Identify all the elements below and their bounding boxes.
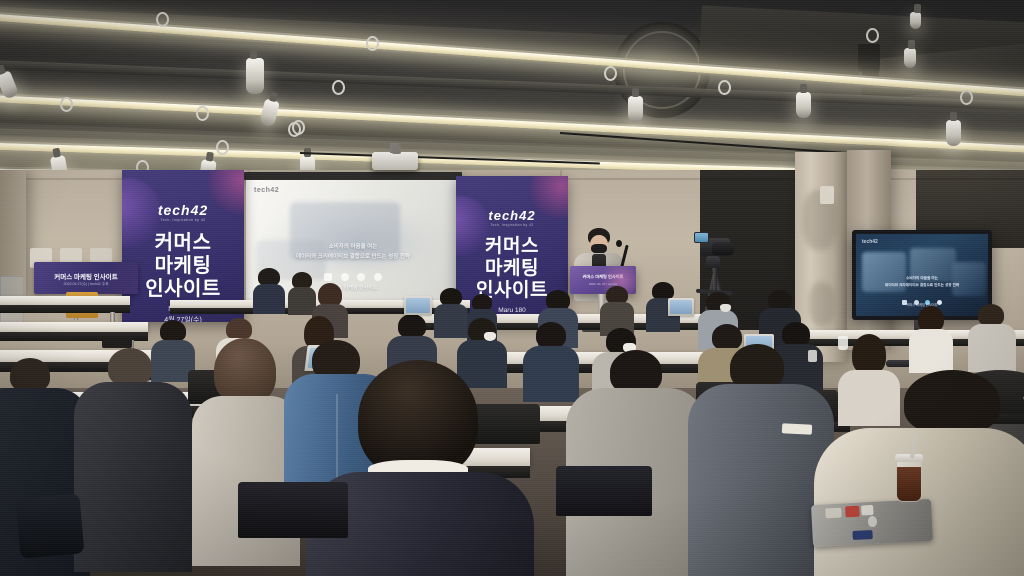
torso bbox=[968, 324, 1016, 372]
slide-caption-line2: 데이터와 크리에이티브 결합으로 만드는 성장 전략 bbox=[246, 252, 460, 260]
table bbox=[0, 296, 130, 305]
projection-screen-frame bbox=[244, 172, 462, 180]
paper-cup bbox=[808, 350, 817, 362]
banner-logo-sub: Tech, Inspiration by 42 bbox=[122, 218, 244, 222]
ceiling-hook-icon bbox=[196, 106, 209, 121]
banner-logo: tech42 bbox=[122, 202, 244, 218]
cup-contents bbox=[897, 467, 921, 501]
slide-logo: tech42 bbox=[254, 187, 279, 194]
spotlight-icon bbox=[904, 48, 916, 68]
torso bbox=[434, 304, 468, 338]
hair bbox=[712, 324, 742, 350]
tv-screen: tech42 소비자의 마음을 여는 데이터와 크리에이티브 결합으로 만드는 … bbox=[856, 234, 988, 316]
microphone-head bbox=[616, 240, 622, 247]
table-bracket bbox=[102, 338, 132, 348]
tv-footer: 커머스 마케팅 인사이트 bbox=[856, 302, 988, 307]
hair bbox=[214, 338, 276, 404]
macbook-laptop bbox=[811, 499, 933, 547]
hair bbox=[978, 304, 1004, 326]
torso bbox=[74, 382, 192, 572]
ceiling-hook-icon bbox=[960, 90, 973, 105]
tv-caption-line1: 소비자의 마음을 여는 bbox=[856, 276, 988, 281]
conference-photo: tech42 소비자의 마음을 여는 데이터와 크리에이티브 결합으로 만드는 … bbox=[0, 0, 1024, 576]
hair bbox=[782, 322, 810, 346]
ceiling-hook-icon bbox=[156, 12, 169, 27]
hair bbox=[546, 290, 570, 310]
spotlight-icon bbox=[910, 12, 921, 29]
tv-caption-line2: 데이터와 크리에이티브 결합으로 만드는 성장 전략 bbox=[856, 283, 988, 288]
wall-sign-text: 커머스 마케팅 인사이트 bbox=[34, 271, 138, 281]
slide-icon bbox=[324, 273, 332, 281]
torso bbox=[253, 284, 285, 314]
ceiling-hook-icon bbox=[366, 36, 379, 51]
paper-cup bbox=[838, 336, 848, 350]
laptop-sticker bbox=[845, 506, 860, 518]
face-mask bbox=[484, 332, 496, 341]
ceiling-hook-icon bbox=[604, 66, 617, 81]
tv-logo: tech42 bbox=[862, 239, 878, 245]
hair bbox=[904, 370, 1000, 434]
tv-icon-row bbox=[856, 292, 988, 310]
wall-sign: 커머스 마케팅 인사이트 2022.04.27(수) | tech42 주최 bbox=[34, 262, 138, 294]
banner-title-line1: 커머스 bbox=[456, 236, 568, 257]
hair bbox=[108, 348, 152, 386]
tv-monitor: tech42 소비자의 마음을 여는 데이터와 크리에이티브 결합으로 만드는 … bbox=[852, 230, 992, 320]
chair bbox=[470, 404, 540, 444]
hair bbox=[536, 322, 566, 348]
ceiling-hook-icon bbox=[60, 97, 73, 112]
banner-title-line1: 커머스 bbox=[122, 232, 244, 255]
slide-icon bbox=[357, 273, 365, 281]
laptop-screen bbox=[670, 300, 692, 314]
cup-lid bbox=[895, 454, 923, 462]
torso bbox=[523, 346, 579, 402]
bag bbox=[16, 493, 85, 558]
banner-logo: tech42 bbox=[456, 208, 568, 223]
ceiling-projector bbox=[372, 152, 418, 170]
projector-mount bbox=[392, 145, 401, 154]
ceiling-hook-icon bbox=[292, 120, 305, 135]
slide-caption-line1: 소비자의 마음을 여는 bbox=[246, 242, 460, 250]
ceiling-hook-icon bbox=[718, 80, 731, 95]
spotlight-icon bbox=[946, 120, 961, 146]
wall-outlet bbox=[820, 186, 834, 204]
torso bbox=[838, 370, 900, 426]
banner-title-line2: 마케팅 bbox=[456, 258, 568, 279]
banner-title-line3: 인사이트 bbox=[122, 278, 244, 301]
apple-logo-icon bbox=[868, 516, 878, 527]
slide-icon bbox=[374, 273, 382, 281]
podium-banner-text: 커머스 마케팅 인사이트 bbox=[570, 274, 636, 280]
iced-coffee-cup bbox=[896, 448, 922, 504]
spotlight-icon bbox=[628, 96, 643, 122]
laptop-sticker bbox=[825, 508, 842, 519]
pillar-stain bbox=[809, 282, 835, 326]
spotlight-icon bbox=[796, 92, 811, 118]
hair bbox=[398, 314, 426, 338]
handout-paper bbox=[782, 423, 812, 435]
chair bbox=[238, 482, 348, 538]
laptop-sticker bbox=[861, 505, 874, 516]
wall-sign-sub: 2022.04.27(수) | tech42 주최 bbox=[34, 282, 138, 287]
chair bbox=[556, 466, 652, 516]
ceiling-hook-icon bbox=[332, 80, 345, 95]
face-mask bbox=[720, 304, 731, 312]
banner-title-line2: 마케팅 bbox=[122, 255, 244, 278]
torso bbox=[688, 384, 834, 576]
table bbox=[0, 322, 148, 332]
hair bbox=[852, 334, 886, 374]
banner-logo-sub: Tech, Inspiration by 42 bbox=[456, 223, 568, 227]
torso bbox=[909, 329, 953, 373]
laptop-sticker bbox=[852, 530, 872, 540]
ceiling-hook-icon bbox=[216, 140, 229, 155]
cup-body bbox=[896, 458, 922, 502]
camera-flip-screen bbox=[694, 232, 709, 243]
hair bbox=[768, 290, 792, 310]
hair bbox=[10, 358, 50, 392]
laptop-screen bbox=[406, 298, 430, 313]
ceiling-hook-icon bbox=[866, 28, 879, 43]
hair bbox=[160, 320, 186, 342]
slide-icon bbox=[341, 273, 349, 281]
podium-banner-sub: 2022. 04. 27 | tech42 bbox=[570, 282, 636, 286]
hair bbox=[226, 318, 252, 340]
camera-lens bbox=[712, 242, 734, 255]
spotlight-icon bbox=[246, 58, 264, 94]
